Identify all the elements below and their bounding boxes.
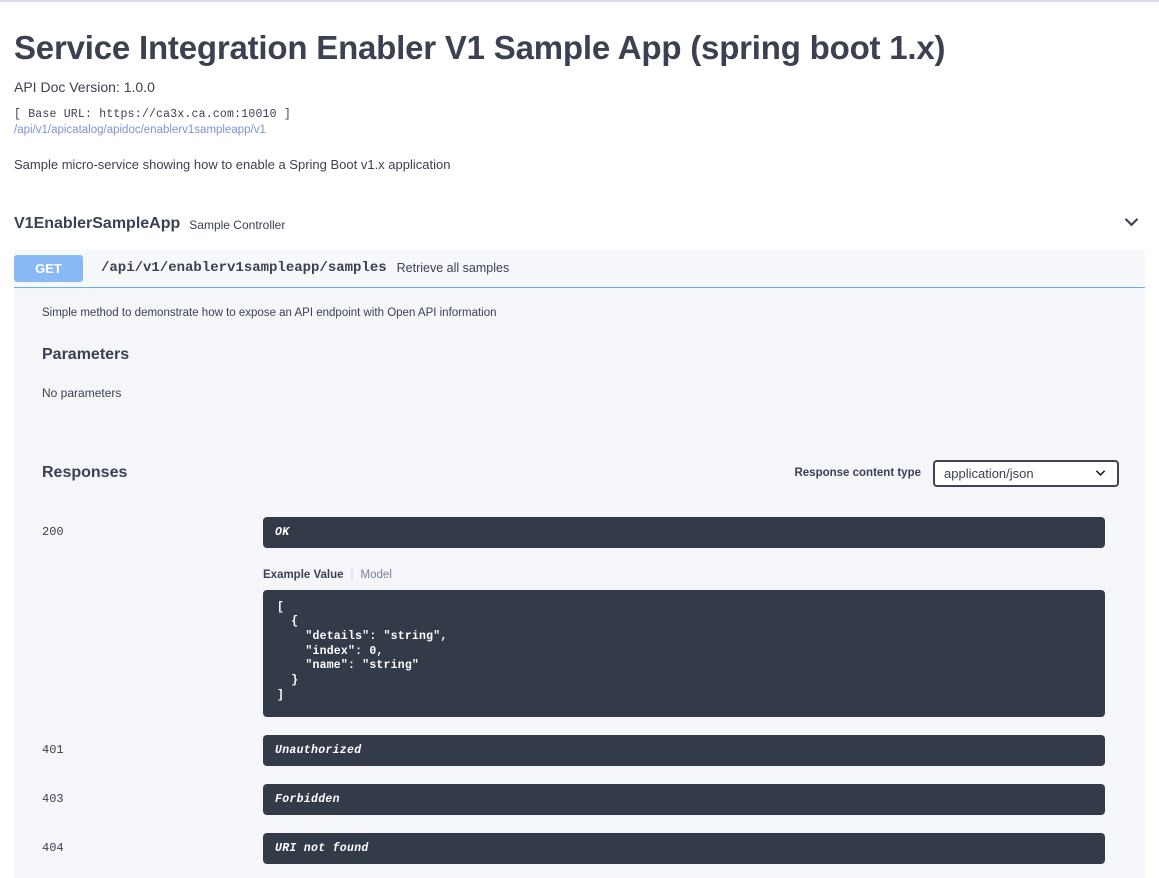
tab-model[interactable]: Model — [361, 569, 392, 581]
tag-name: V1EnablerSampleApp — [14, 215, 180, 233]
response-body: URI not found — [263, 833, 1131, 864]
base-url: [ Base URL: https://ca3x.ca.com:10010 ] — [14, 108, 1145, 121]
table-row: 404 URI not found — [28, 833, 1131, 864]
api-description: Sample micro-service showing how to enab… — [14, 157, 1145, 172]
tab-divider: | — [351, 569, 354, 581]
chevron-down-icon — [1085, 467, 1107, 480]
api-version: API Doc Version: 1.0.0 — [14, 79, 1145, 95]
operation-body: Simple method to demonstrate how to expo… — [14, 288, 1145, 878]
tag-header[interactable]: V1EnablerSampleApp Sample Controller — [14, 213, 1145, 242]
swagger-ui-page: Service Integration Enabler V1 Sample Ap… — [0, 0, 1159, 878]
response-code: 404 — [28, 833, 263, 855]
api-info-block: Service Integration Enabler V1 Sample Ap… — [0, 2, 1159, 172]
response-content-type-select[interactable]: application/json — [933, 460, 1119, 487]
tag-section: V1EnablerSampleApp Sample Controller GET… — [0, 213, 1159, 878]
no-parameters-text: No parameters — [42, 386, 1131, 400]
operation-path: /api/v1/enablerv1sampleapp/samples — [101, 260, 387, 276]
operation-summary-row[interactable]: GET /api/v1/enablerv1sampleapp/samples R… — [14, 250, 1145, 288]
response-content-type-label: Response content type — [794, 467, 921, 479]
page-title: Service Integration Enabler V1 Sample Ap… — [14, 28, 1145, 68]
responses-header-row: Responses Response content type applicat… — [28, 460, 1131, 487]
chevron-down-icon — [1122, 213, 1141, 235]
example-model-tabs: Example Value | Model — [263, 569, 1105, 581]
tag-collapse-button[interactable] — [1118, 213, 1145, 235]
tab-example-value[interactable]: Example Value — [263, 569, 344, 581]
response-description: Forbidden — [263, 784, 1105, 815]
response-description: OK — [263, 517, 1105, 548]
response-body: Forbidden — [263, 784, 1131, 815]
responses-heading: Responses — [42, 464, 127, 482]
api-spec-link[interactable]: /api/v1/apicatalog/apidoc/enablerv1sampl… — [14, 124, 1145, 136]
response-description: URI not found — [263, 833, 1105, 864]
table-row: 401 Unauthorized — [28, 735, 1131, 766]
response-code: 200 — [28, 517, 263, 539]
operation-block-get-samples: GET /api/v1/enablerv1sampleapp/samples R… — [14, 250, 1145, 878]
operation-summary-text: Retrieve all samples — [397, 261, 510, 275]
table-row: 403 Forbidden — [28, 784, 1131, 815]
response-code: 401 — [28, 735, 263, 757]
example-value-code[interactable]: [ { "details": "string", "index": 0, "na… — [263, 590, 1105, 717]
tag-description: Sample Controller — [189, 218, 285, 232]
http-method-badge: GET — [14, 255, 83, 282]
response-description: Unauthorized — [263, 735, 1105, 766]
response-content-type-value: application/json — [935, 466, 1034, 481]
response-body: Unauthorized — [263, 735, 1131, 766]
responses-table: 200 OK Example Value | Model [ { "detail… — [28, 517, 1131, 878]
operation-description: Simple method to demonstrate how to expo… — [28, 288, 1131, 319]
parameters-heading: Parameters — [42, 346, 1131, 364]
table-row: 200 OK Example Value | Model [ { "detail… — [28, 517, 1131, 717]
response-code: 403 — [28, 784, 263, 806]
response-body: OK Example Value | Model [ { "details": … — [263, 517, 1131, 717]
